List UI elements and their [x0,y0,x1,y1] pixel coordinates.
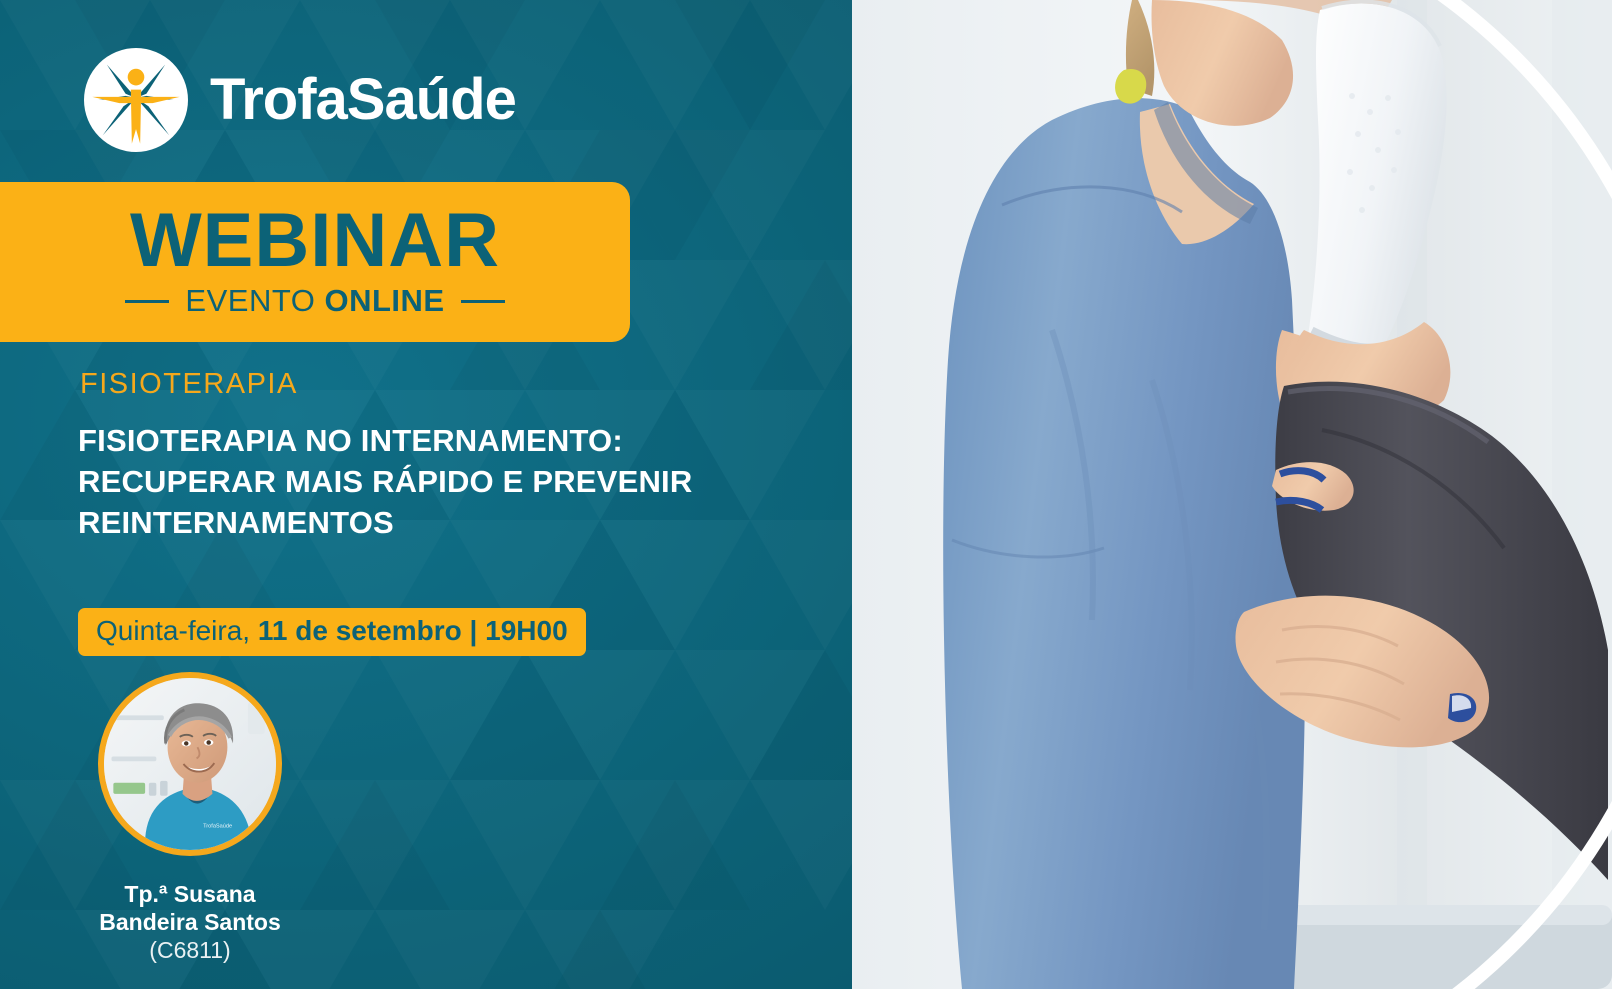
event-title: FISIOTERAPIA NO INTERNAMENTO: RECUPERAR … [78,420,698,543]
subtitle-light: EVENTO [185,283,324,318]
webinar-banner: WEBINAR EVENTO ONLINE [0,182,630,342]
trofasaude-logo-icon [84,48,188,152]
rule-left [125,300,169,303]
speaker-name-line2: Bandeira Santos [0,908,380,936]
speaker-name: Tp.ª Susana Bandeira Santos [0,880,380,936]
svg-text:TrofaSaúde: TrofaSaúde [203,824,232,830]
event-category: FISIOTERAPIA [80,368,298,401]
date-prefix: Quinta-feira, [96,615,258,646]
speaker-code: (C6811) [0,936,380,964]
speaker-name-line1: Tp.ª Susana [0,880,380,908]
hero-photo [852,0,1612,989]
speaker-avatar: TrofaSaúde [98,672,282,856]
webinar-poster: TrofaSaúde WEBINAR EVENTO ONLINE FISIOTE… [0,0,1612,989]
webinar-subtitle: EVENTO ONLINE [125,283,504,319]
date-bold: 11 de setembro | 19H00 [258,615,568,646]
webinar-subtitle-text: EVENTO ONLINE [185,283,444,319]
brand-name: TrofaSaúde [210,71,516,129]
brand-logo: TrofaSaúde [84,48,516,152]
event-date-badge: Quinta-feira, 11 de setembro | 19H00 [78,608,586,656]
rule-right [461,300,505,303]
webinar-title: WEBINAR [130,205,500,277]
subtitle-bold: ONLINE [324,283,444,318]
